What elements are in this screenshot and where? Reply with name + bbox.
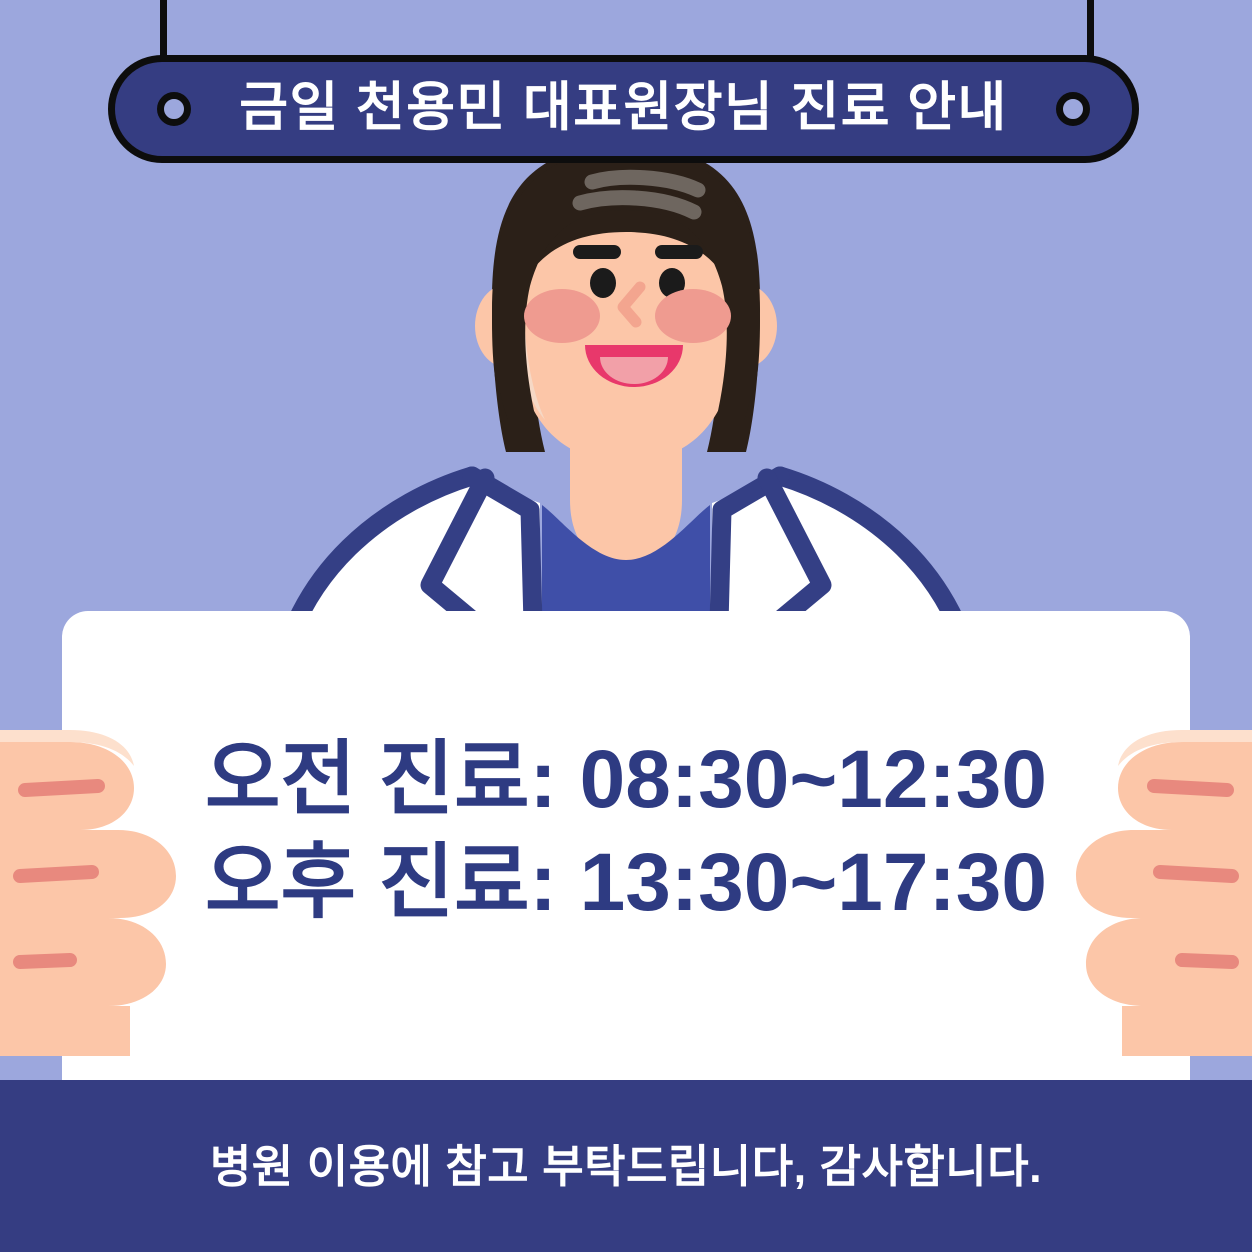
knuckle-crease-left-3 <box>20 960 70 962</box>
footer-message: 병원 이용에 참고 부탁드립니다, 감사합니다. <box>210 1144 1042 1189</box>
hands-group <box>0 0 1252 1252</box>
knuckle-crease-left-1 <box>25 786 98 790</box>
hand-right <box>1076 730 1252 1056</box>
knuckle-crease-right-3 <box>1182 960 1232 962</box>
knuckle-crease-left-2 <box>20 872 92 876</box>
knuckle-crease-right-2 <box>1160 872 1232 876</box>
poster-root: 금일 천용민 대표원장님 진료 안내 오전 진료: 08:30~12:30 오후… <box>0 0 1252 1252</box>
knuckle-crease-right-1 <box>1154 786 1227 790</box>
hand-left <box>0 730 176 1056</box>
footer-bar: 병원 이용에 참고 부탁드립니다, 감사합니다. <box>0 1080 1252 1252</box>
